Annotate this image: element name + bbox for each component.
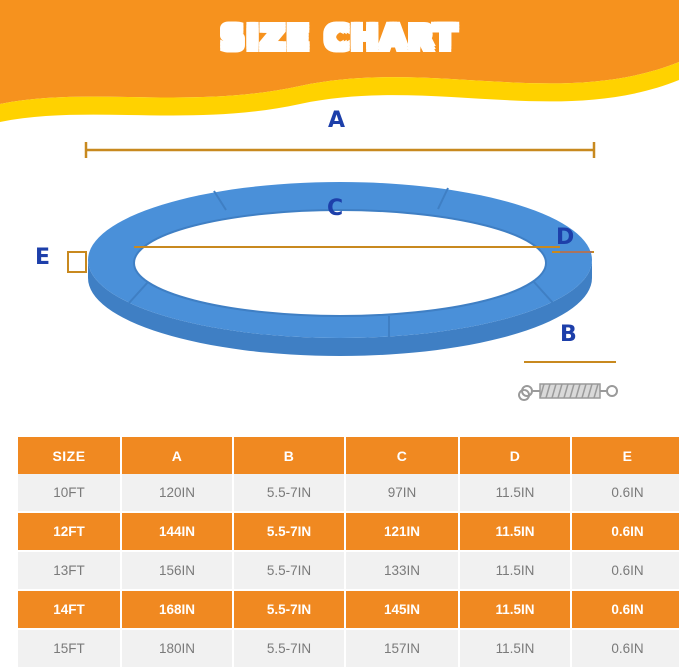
cell-size: 12FT bbox=[18, 512, 121, 551]
table-header-a: A bbox=[121, 437, 233, 474]
table-row: 13FT 156IN 5.5-7IN 133IN 11.5IN 0.6IN bbox=[18, 551, 679, 590]
spring-illustration bbox=[519, 362, 617, 400]
size-chart-table-wrapper: SIZE A B C D E 10FT 120IN 5.5-7IN 97IN 1… bbox=[18, 437, 661, 669]
table-header-e: E bbox=[571, 437, 679, 474]
trampoline-diagram: A B C D E bbox=[0, 100, 679, 430]
table-header-size: SIZE bbox=[18, 437, 121, 474]
table-header-d: D bbox=[459, 437, 571, 474]
cell-a: 156IN bbox=[121, 551, 233, 590]
cell-c: 121IN bbox=[345, 512, 459, 551]
cell-e: 0.6IN bbox=[571, 474, 679, 512]
cell-c: 145IN bbox=[345, 590, 459, 629]
cell-b: 5.5-7IN bbox=[233, 629, 345, 668]
label-b: B bbox=[560, 322, 577, 347]
cell-size: 13FT bbox=[18, 551, 121, 590]
label-a: A bbox=[328, 108, 345, 133]
cell-size: 15FT bbox=[18, 629, 121, 668]
cell-size: 14FT bbox=[18, 590, 121, 629]
cell-c: 133IN bbox=[345, 551, 459, 590]
table-row: 12FT 144IN 5.5-7IN 121IN 11.5IN 0.6IN bbox=[18, 512, 679, 551]
page-title-text: SIZE CHART bbox=[221, 18, 459, 57]
cell-e: 0.6IN bbox=[571, 551, 679, 590]
cell-e: 0.6IN bbox=[571, 512, 679, 551]
cell-a: 120IN bbox=[121, 474, 233, 512]
cell-b: 5.5-7IN bbox=[233, 512, 345, 551]
table-body: 10FT 120IN 5.5-7IN 97IN 11.5IN 0.6IN 12F… bbox=[18, 474, 679, 668]
cell-a: 168IN bbox=[121, 590, 233, 629]
page-title: SIZE CHART bbox=[0, 18, 679, 57]
cell-c: 97IN bbox=[345, 474, 459, 512]
cell-d: 11.5IN bbox=[459, 590, 571, 629]
cell-b: 5.5-7IN bbox=[233, 551, 345, 590]
measure-marker-e bbox=[68, 252, 86, 272]
table-header-b: B bbox=[233, 437, 345, 474]
cell-e: 0.6IN bbox=[571, 629, 679, 668]
cell-a: 180IN bbox=[121, 629, 233, 668]
cell-d: 11.5IN bbox=[459, 551, 571, 590]
cell-c: 157IN bbox=[345, 629, 459, 668]
table-head: SIZE A B C D E bbox=[18, 437, 679, 474]
table-row: 10FT 120IN 5.5-7IN 97IN 11.5IN 0.6IN bbox=[18, 474, 679, 512]
cell-d: 11.5IN bbox=[459, 474, 571, 512]
label-c: C bbox=[327, 196, 343, 221]
measure-line-a bbox=[86, 142, 594, 158]
table-row: 15FT 180IN 5.5-7IN 157IN 11.5IN 0.6IN bbox=[18, 629, 679, 668]
cell-d: 11.5IN bbox=[459, 629, 571, 668]
cell-b: 5.5-7IN bbox=[233, 590, 345, 629]
cell-d: 11.5IN bbox=[459, 512, 571, 551]
cell-a: 144IN bbox=[121, 512, 233, 551]
diagram-svg bbox=[0, 100, 679, 430]
cell-e: 0.6IN bbox=[571, 590, 679, 629]
table-header-row: SIZE A B C D E bbox=[18, 437, 679, 474]
cell-size: 10FT bbox=[18, 474, 121, 512]
label-e: E bbox=[35, 245, 50, 270]
size-chart-table: SIZE A B C D E 10FT 120IN 5.5-7IN 97IN 1… bbox=[18, 437, 679, 669]
cell-b: 5.5-7IN bbox=[233, 474, 345, 512]
label-d: D bbox=[556, 225, 574, 250]
table-row: 14FT 168IN 5.5-7IN 145IN 11.5IN 0.6IN bbox=[18, 590, 679, 629]
table-header-c: C bbox=[345, 437, 459, 474]
